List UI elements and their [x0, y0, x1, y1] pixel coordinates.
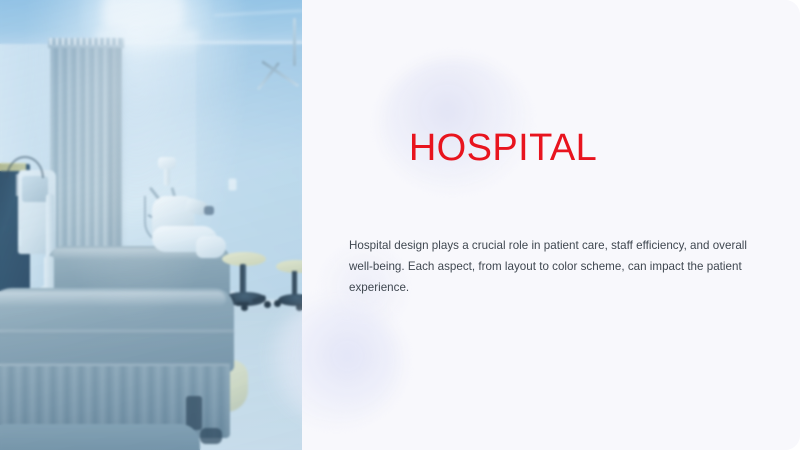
hospital-bed-seam [0, 330, 234, 334]
monitor-tip [204, 206, 214, 215]
ceiling-arm-post [293, 18, 296, 66]
rolling-stool-caster [241, 305, 248, 311]
equipment-console-knob [18, 230, 21, 246]
content-panel: HOSPITAL Hospital design plays a crucial… [302, 0, 800, 450]
equipment-console-screen [22, 176, 48, 202]
ceiling-light [104, 0, 182, 30]
hospital-bed-base [0, 424, 200, 450]
slide-title: HOSPITAL [254, 128, 752, 170]
wall-outlet [229, 179, 236, 190]
rolling-stool-caster [264, 301, 271, 308]
slide-body-text: Hospital design plays a crucial role in … [349, 235, 761, 298]
curtain-hooks [50, 38, 122, 45]
hospital-bed-caster [200, 428, 222, 444]
rolling-stool-caster [274, 300, 281, 307]
background-watermark-circle-top [380, 58, 530, 190]
monitor-head [158, 157, 176, 169]
pillow-secondary [196, 236, 226, 258]
presentation-slide: HOSPITAL Hospital design plays a crucial… [0, 0, 800, 450]
hospital-room-photo [0, 0, 302, 450]
hospital-bed-front-highlight [0, 291, 226, 307]
